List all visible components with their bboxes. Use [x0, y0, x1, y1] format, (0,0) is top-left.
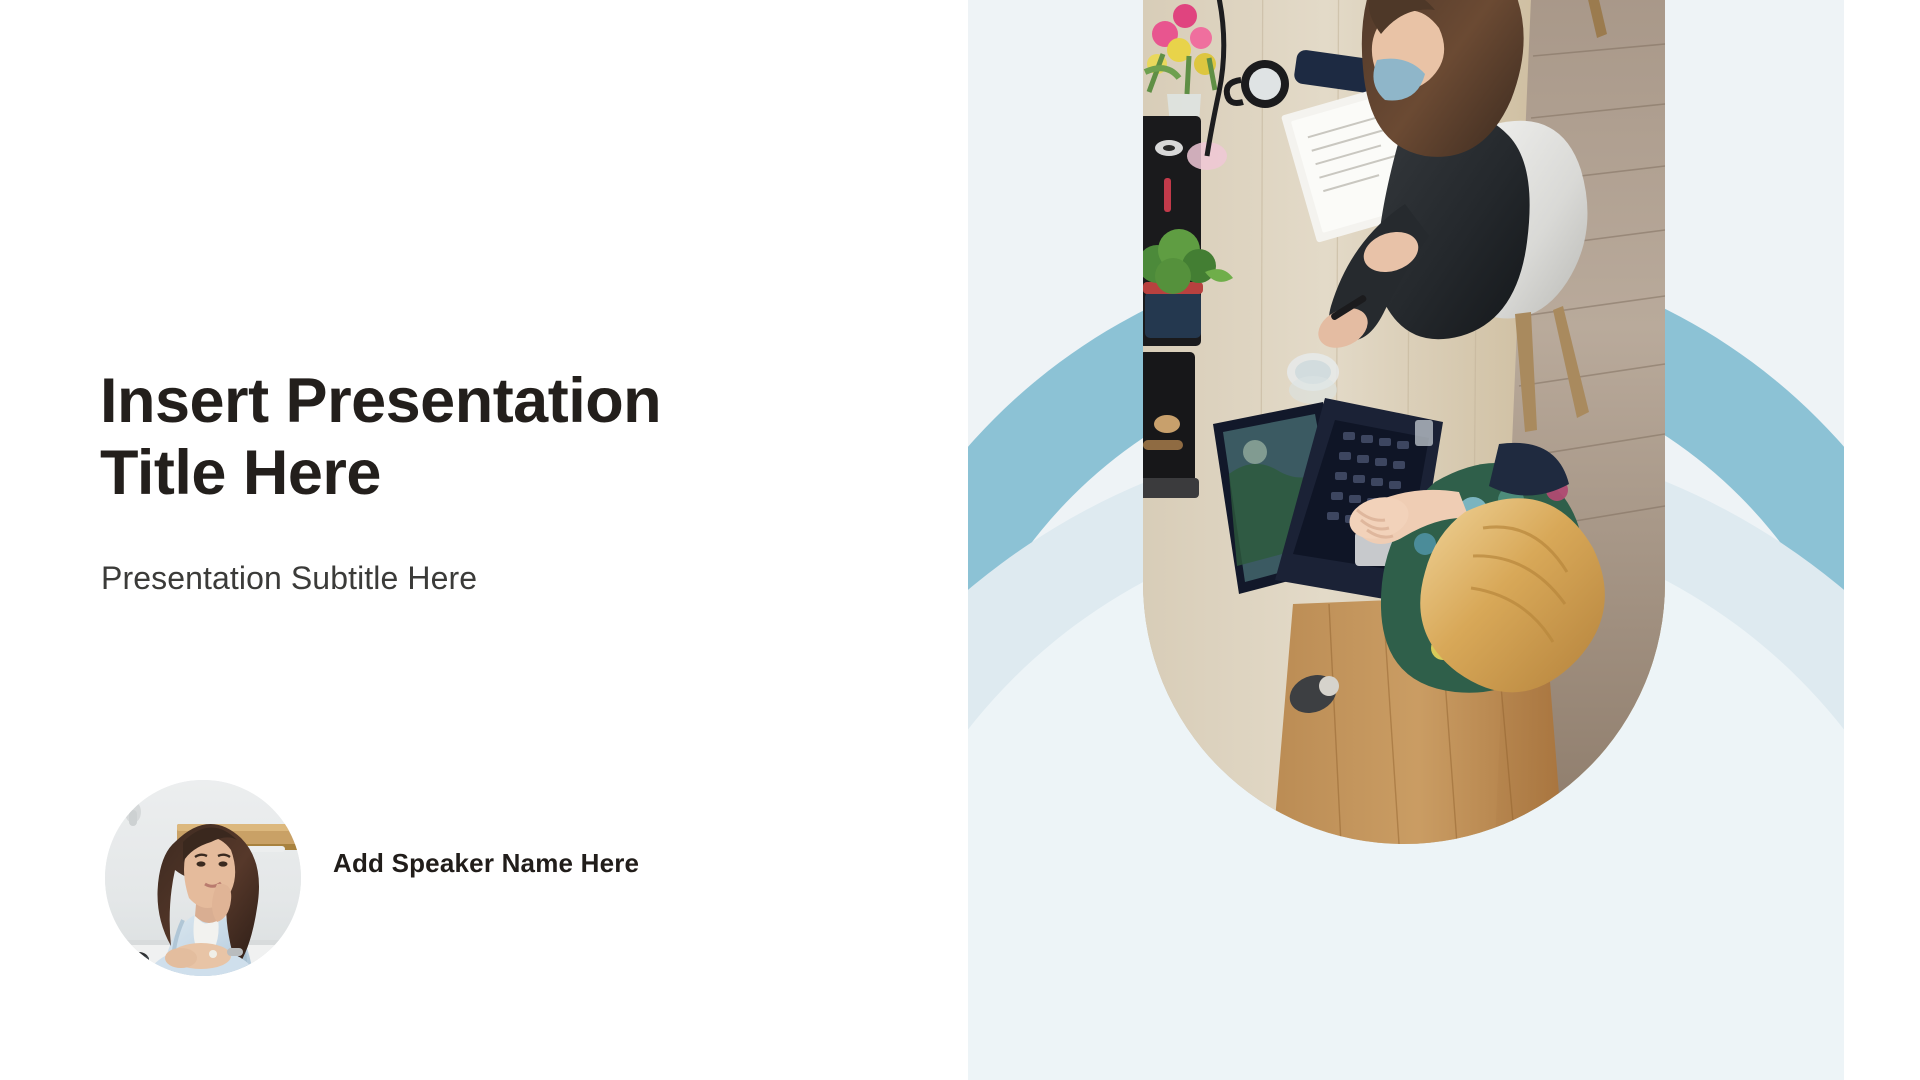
hero-image-frame: [1143, 0, 1665, 844]
slide-title: Insert Presentation Title Here: [100, 366, 800, 510]
presentation-slide: Insert Presentation Title Here Presentat…: [0, 0, 1920, 1080]
slide-subtitle: Presentation Subtitle Here: [101, 560, 801, 597]
speaker-avatar-photo: [105, 780, 301, 976]
speaker-block: Add Speaker Name Here: [105, 780, 745, 980]
speaker-avatar: [105, 780, 301, 976]
speaker-name-label: Add Speaker Name Here: [333, 848, 663, 880]
hero-office-photo: [1143, 0, 1665, 844]
